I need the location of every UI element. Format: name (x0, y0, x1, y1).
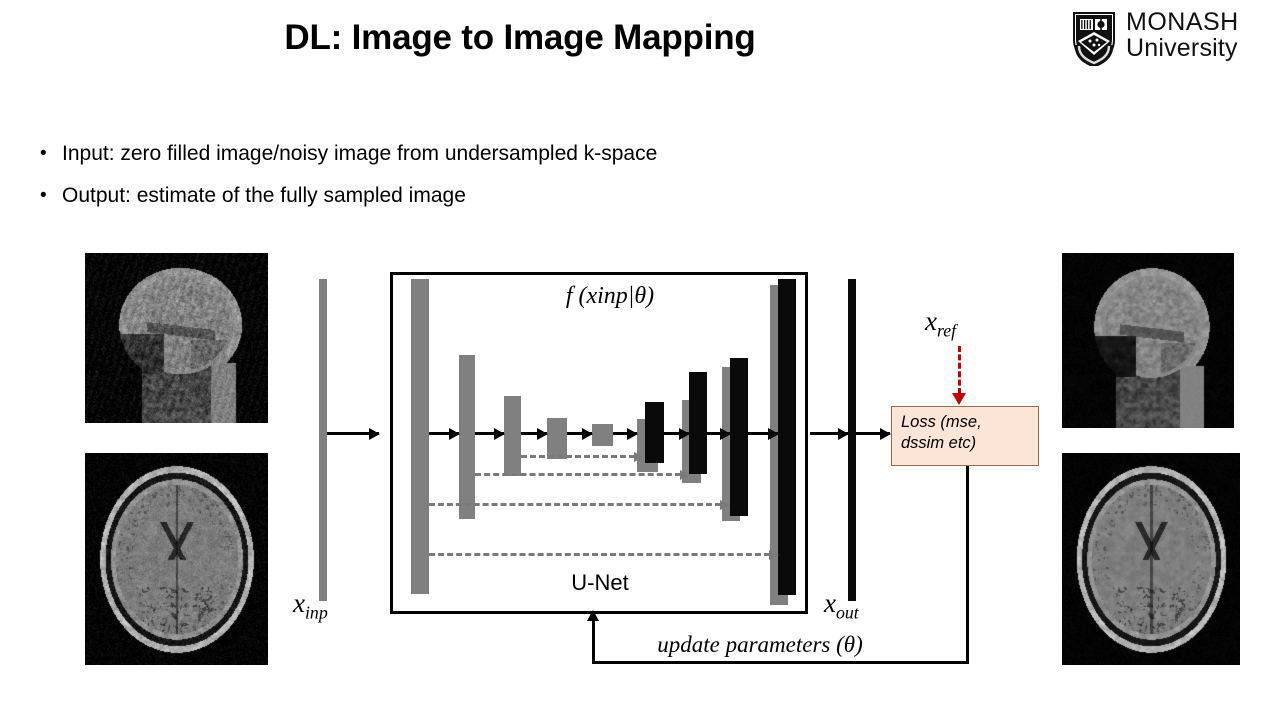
output-label: xout (824, 588, 859, 623)
unet-arrow-5 (613, 432, 637, 435)
bullet-text: Output: estimate of the fully sampled im… (62, 182, 466, 210)
loss-box: Loss (mse, dssim etc) (891, 406, 1039, 466)
feedback-arrowhead-icon (587, 610, 599, 621)
bullet-marker: • (40, 182, 62, 210)
skip-connection-1 (429, 553, 770, 556)
feedback-line-horizontal (592, 661, 969, 664)
monash-crest-icon (1068, 10, 1120, 66)
skip-connection-3 (475, 473, 681, 476)
encoder-bar-1 (411, 279, 429, 594)
skip-connection-4 (521, 455, 635, 458)
loss-line-1: Loss (mse, (901, 412, 1030, 433)
unet-arrow-3 (521, 432, 547, 435)
decoder-bar-3 (689, 372, 707, 474)
arrow-output-to-loss (856, 432, 890, 435)
ref-dashed-line (958, 346, 961, 394)
logo-line-2: University (1126, 36, 1239, 61)
bullet-list: • Input: zero filled image/noisy image f… (40, 140, 940, 224)
input-signal-bar (319, 279, 327, 601)
unet-arrow-7 (707, 432, 730, 435)
encoder-bar-2 (459, 355, 475, 519)
feedback-line-vertical-right (966, 466, 969, 664)
bullet-item-output: • Output: estimate of the fully sampled … (40, 182, 940, 210)
feedback-line-vertical-left (592, 620, 595, 664)
monash-logo: MONASH University (1068, 10, 1268, 68)
loss-line-2: dssim etc) (901, 433, 1030, 454)
encoder-bar-4 (547, 418, 567, 459)
page-title: DL: Image to Image Mapping (0, 18, 1040, 58)
arrow-unet-to-output (810, 432, 848, 435)
reference-sagittal-mri (1062, 253, 1234, 428)
output-signal-bar (848, 279, 856, 601)
unet-arrow-1 (429, 432, 459, 435)
bullet-marker: • (40, 140, 62, 168)
function-label: f (xinp|θ) (510, 283, 710, 310)
slide-root: DL: Image to Image Mapping MONASH Univer (0, 0, 1280, 720)
bullet-item-input: • Input: zero filled image/noisy image f… (40, 140, 940, 168)
unet-arrow-4 (567, 432, 592, 435)
unet-arrow-2 (475, 432, 504, 435)
skip-connection-2 (429, 503, 721, 506)
input-label: xinp (293, 588, 328, 623)
bullet-text: Input: zero filled image/noisy image fro… (62, 140, 657, 168)
input-axial-mri (85, 453, 268, 665)
update-parameters-label: update parameters (θ) (600, 632, 920, 658)
unet-arrow-8 (748, 432, 778, 435)
input-sagittal-mri (85, 253, 268, 423)
encoder-bar-3 (504, 396, 521, 476)
logo-line-1: MONASH (1126, 10, 1239, 35)
reference-label: xref (925, 306, 956, 341)
arrow-input-to-unet (327, 432, 379, 435)
bottleneck-bar (592, 424, 613, 446)
decoder-bar-1 (778, 279, 796, 595)
decoder-bar-4 (645, 402, 664, 463)
reference-axial-mri (1062, 453, 1240, 665)
ref-arrowhead-icon (952, 393, 966, 405)
decoder-bar-2 (730, 358, 748, 516)
unet-name-label: U-Net (520, 570, 680, 596)
unet-arrow-6 (664, 432, 689, 435)
